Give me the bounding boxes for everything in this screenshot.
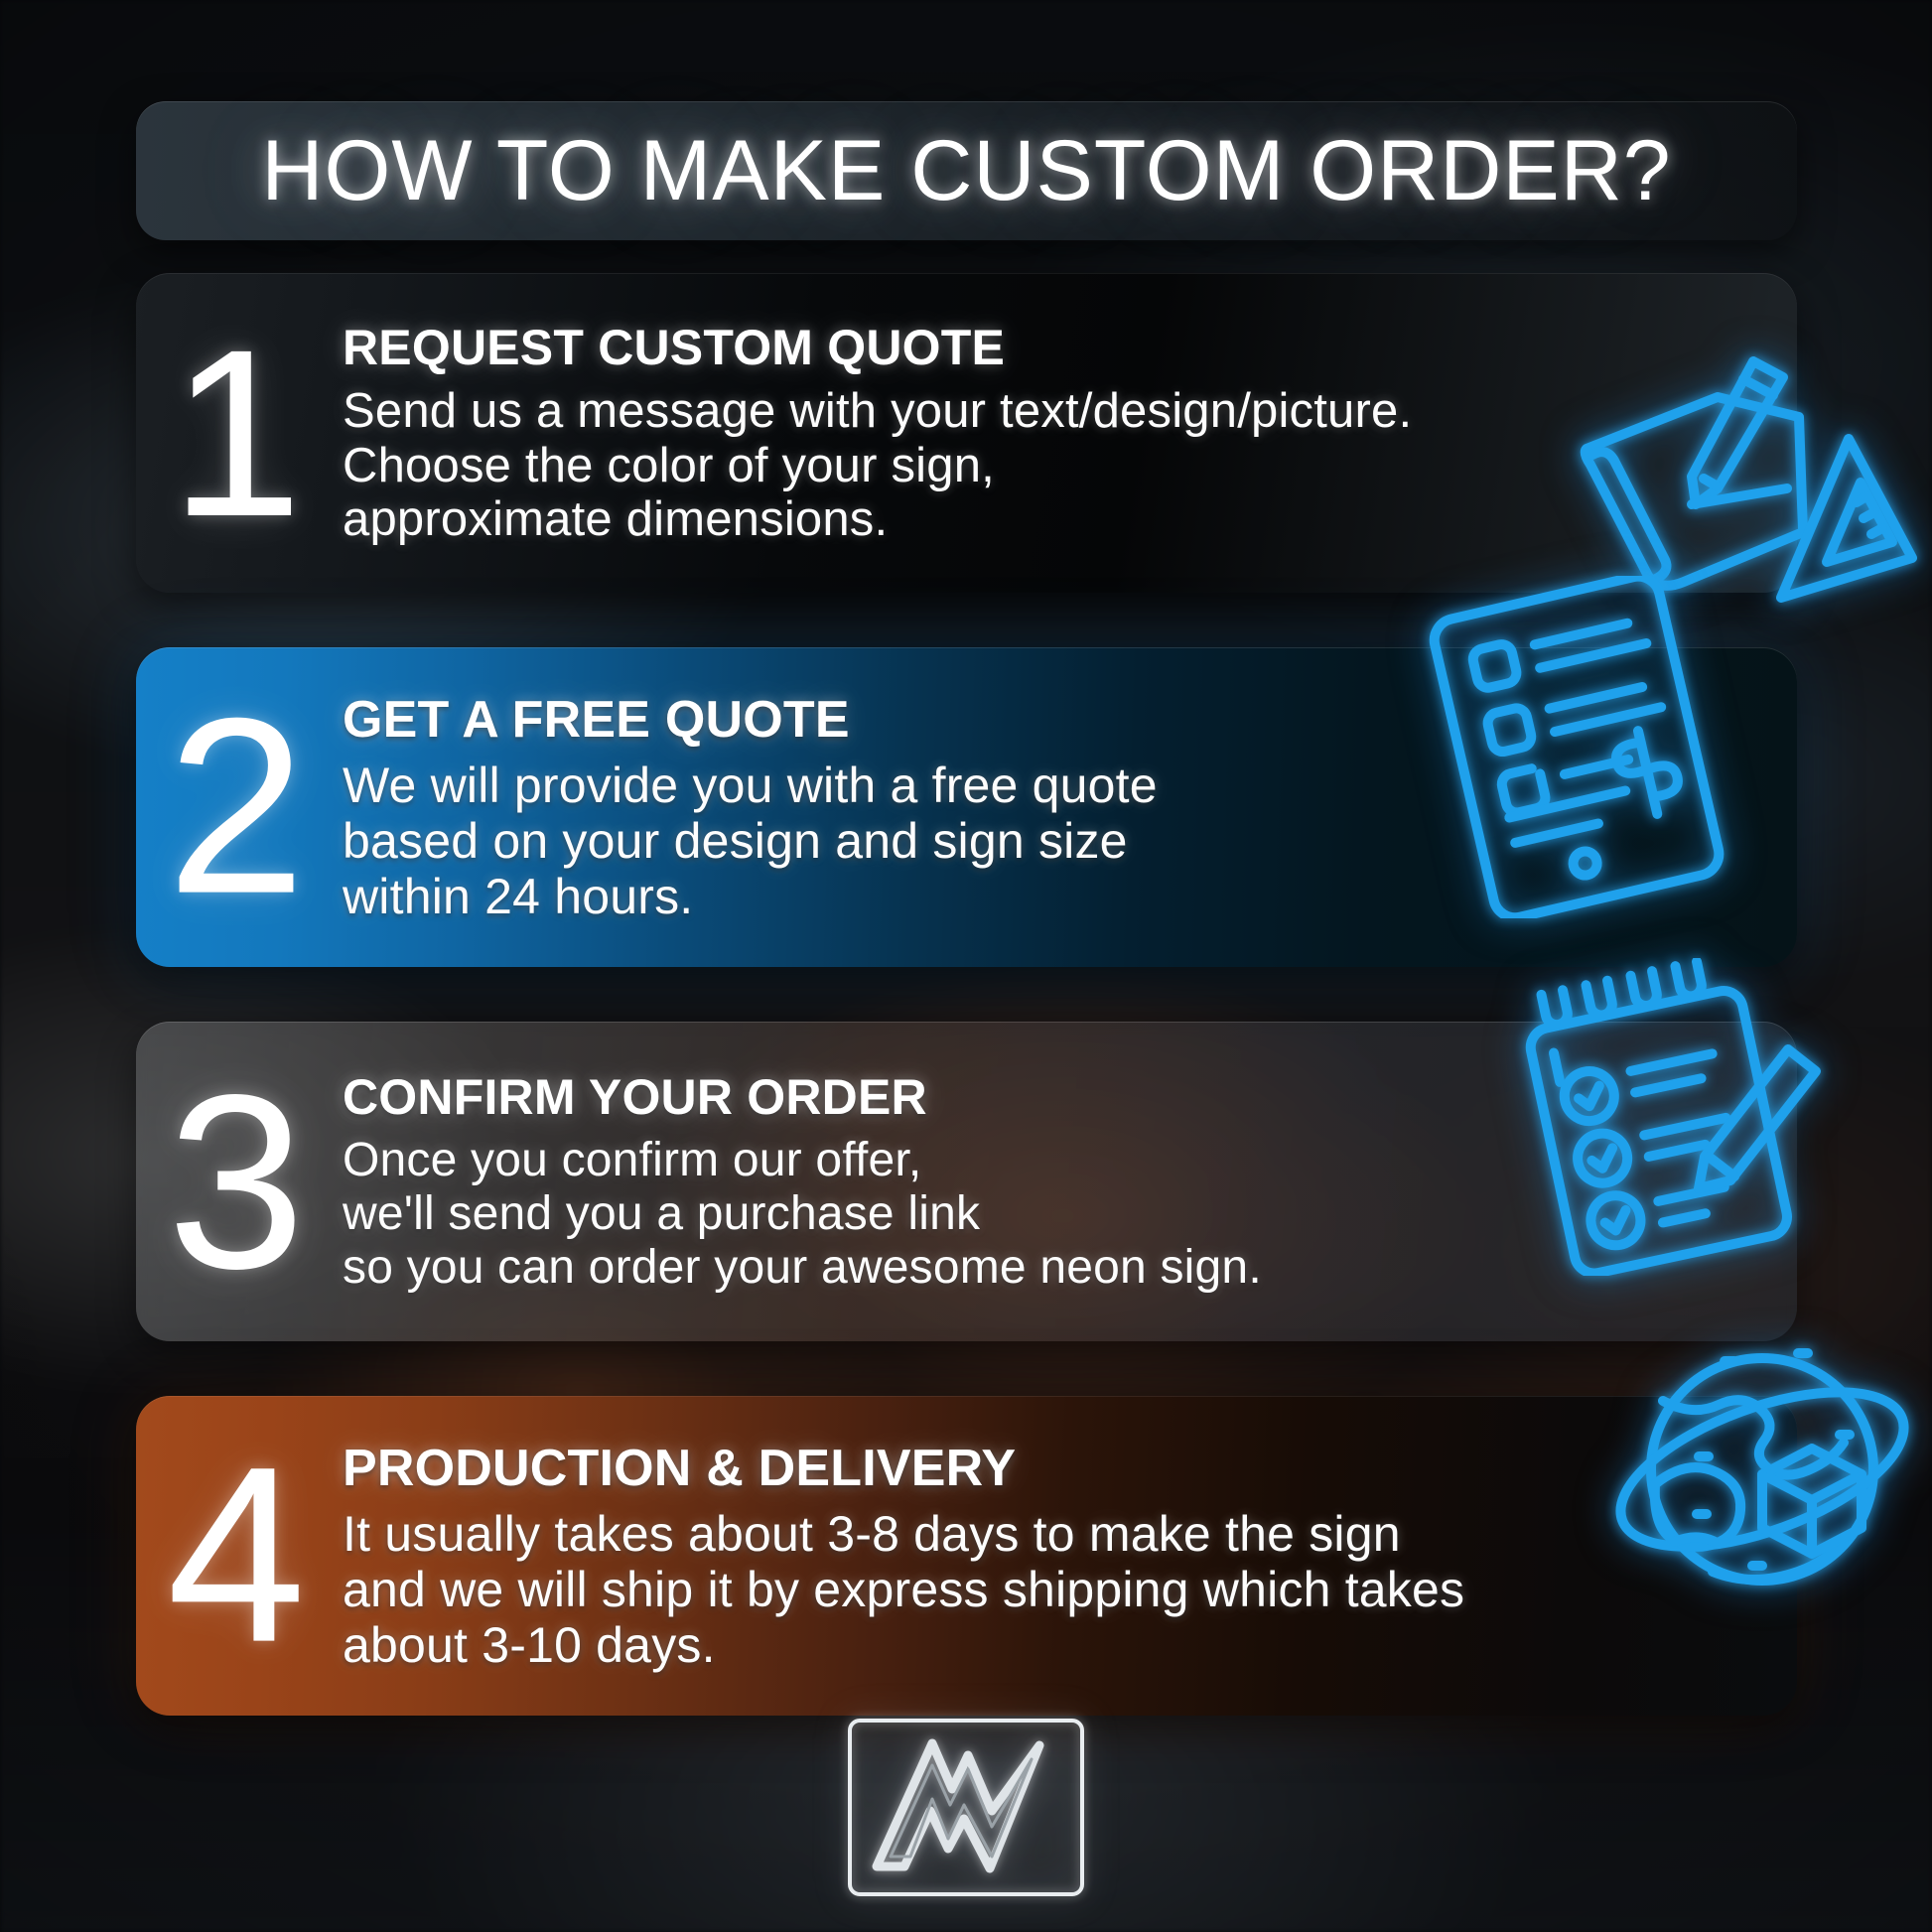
step-number-1: 1 bbox=[136, 326, 335, 540]
step-2-line-2: based on your design and sign size bbox=[343, 813, 1773, 869]
step-card-3-inner: 3 CONFIRM YOUR ORDER Once you confirm ou… bbox=[136, 1022, 1797, 1341]
step-card-2: 2 GET A FREE QUOTE We will provide you w… bbox=[136, 647, 1797, 967]
step-card-1: 1 REQUEST CUSTOM QUOTE Send us a message… bbox=[136, 273, 1797, 593]
step-1-line-1: Send us a message with your text/design/… bbox=[343, 384, 1773, 439]
step-number-4: 4 bbox=[136, 1444, 335, 1669]
step-card-4: 4 PRODUCTION & DELIVERY It usually takes… bbox=[136, 1396, 1797, 1716]
step-3-line-1: Once you confirm our offer, bbox=[343, 1134, 1773, 1187]
step-2-line-1: We will provide you with a free quote bbox=[343, 758, 1773, 813]
neon-monogram-logo-glyph bbox=[845, 1716, 1087, 1899]
step-number-3: 3 bbox=[136, 1070, 335, 1294]
step-2-line-3: within 24 hours. bbox=[343, 869, 1773, 924]
infographic-canvas: HOW TO MAKE CUSTOM ORDER? 1 REQUEST CUST… bbox=[0, 0, 1932, 1932]
step-3-title: CONFIRM YOUR ORDER bbox=[343, 1068, 1773, 1126]
step-4-title: PRODUCTION & DELIVERY bbox=[343, 1439, 1773, 1498]
step-3-body: CONFIRM YOUR ORDER Once you confirm our … bbox=[343, 1022, 1773, 1341]
step-2-title: GET A FREE QUOTE bbox=[343, 690, 1773, 750]
step-card-4-inner: 4 PRODUCTION & DELIVERY It usually takes… bbox=[136, 1396, 1797, 1716]
step-4-body: PRODUCTION & DELIVERY It usually takes a… bbox=[343, 1396, 1773, 1716]
step-4-description: It usually takes about 3-8 days to make … bbox=[343, 1506, 1773, 1673]
step-card-1-inner: 1 REQUEST CUSTOM QUOTE Send us a message… bbox=[136, 273, 1797, 593]
step-1-line-2: Choose the color of your sign, bbox=[343, 439, 1773, 493]
step-card-2-inner: 2 GET A FREE QUOTE We will provide you w… bbox=[136, 647, 1797, 967]
neon-monogram-logo bbox=[845, 1716, 1087, 1899]
step-1-description: Send us a message with your text/design/… bbox=[343, 384, 1773, 548]
page-title-bar: HOW TO MAKE CUSTOM ORDER? bbox=[136, 101, 1797, 240]
step-2-body: GET A FREE QUOTE We will provide you wit… bbox=[343, 647, 1773, 967]
step-number-2: 2 bbox=[136, 695, 335, 920]
page-title: HOW TO MAKE CUSTOM ORDER? bbox=[261, 122, 1671, 220]
step-3-line-3: so you can order your awesome neon sign. bbox=[343, 1241, 1773, 1295]
step-3-line-2: we'll send you a purchase link bbox=[343, 1187, 1773, 1241]
step-4-line-1: It usually takes about 3-8 days to make … bbox=[343, 1506, 1773, 1562]
step-2-description: We will provide you with a free quote ba… bbox=[343, 758, 1773, 924]
step-1-line-3: approximate dimensions. bbox=[343, 492, 1773, 547]
step-card-3: 3 CONFIRM YOUR ORDER Once you confirm ou… bbox=[136, 1022, 1797, 1341]
step-1-title: REQUEST CUSTOM QUOTE bbox=[343, 319, 1773, 376]
step-4-line-3: about 3-10 days. bbox=[343, 1617, 1773, 1673]
step-4-line-2: and we will ship it by express shipping … bbox=[343, 1562, 1773, 1617]
step-3-description: Once you confirm our offer, we'll send y… bbox=[343, 1134, 1773, 1294]
step-1-body: REQUEST CUSTOM QUOTE Send us a message w… bbox=[343, 273, 1773, 593]
